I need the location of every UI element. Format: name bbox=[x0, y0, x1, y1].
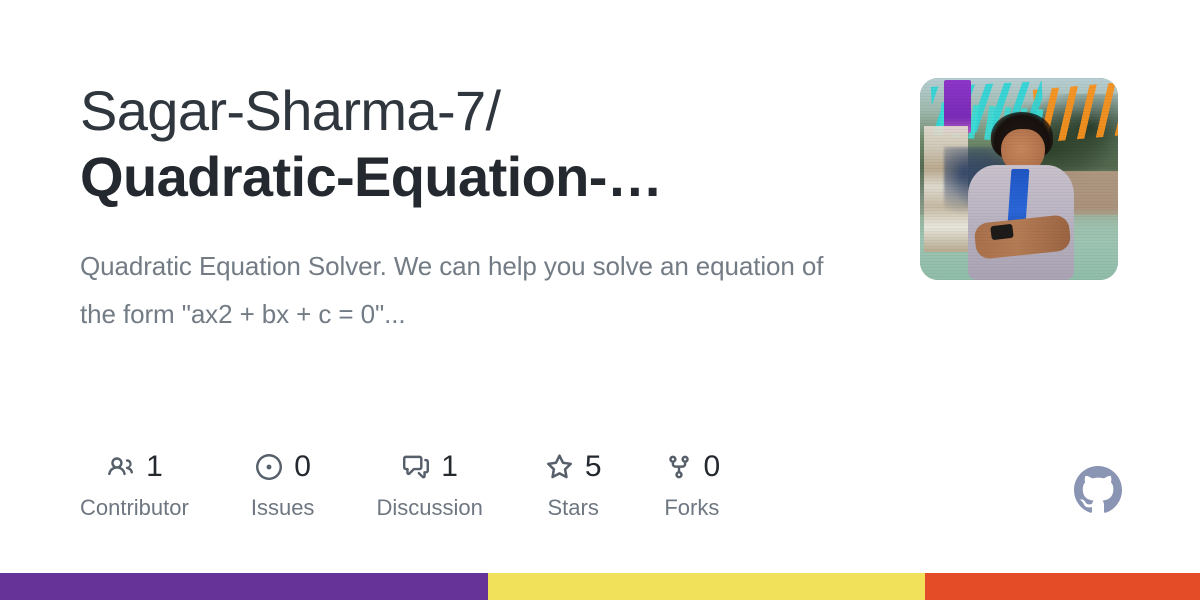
stat-value-row: 1 bbox=[106, 450, 163, 484]
repo-forked-icon bbox=[664, 452, 694, 482]
repo-stats: 1 Contributor 0 Issues bbox=[80, 450, 1040, 520]
stat-discussions: 1 Discussion bbox=[376, 450, 482, 520]
issue-opened-icon bbox=[254, 452, 284, 482]
stat-issues: 0 Issues bbox=[251, 450, 315, 520]
language-segment-purple bbox=[0, 573, 488, 600]
repo-owner-name: Sagar-Sharma-7/ bbox=[80, 78, 870, 144]
language-segment-orange-red bbox=[925, 573, 1200, 600]
stat-label: Forks bbox=[664, 496, 719, 520]
stat-value-row: 1 bbox=[401, 450, 458, 484]
stat-contributors: 1 Contributor bbox=[80, 450, 189, 520]
page-title: Sagar-Sharma-7/ Quadratic-Equation-… bbox=[80, 78, 870, 210]
stat-label: Issues bbox=[251, 496, 315, 520]
repo-name: Quadratic-Equation-… bbox=[80, 144, 780, 210]
people-icon bbox=[106, 452, 136, 482]
repo-header: Sagar-Sharma-7/ Quadratic-Equation-… Qua… bbox=[80, 78, 870, 338]
stat-value-row: 0 bbox=[664, 450, 721, 484]
stat-forks: 0 Forks bbox=[664, 450, 721, 520]
stat-label: Contributor bbox=[80, 496, 189, 520]
github-social-preview-card: Sagar-Sharma-7/ Quadratic-Equation-… Qua… bbox=[0, 0, 1200, 600]
stat-count: 0 bbox=[704, 452, 721, 482]
stat-stars: 5 Stars bbox=[545, 450, 602, 520]
star-icon bbox=[545, 452, 575, 482]
stat-value-row: 0 bbox=[254, 450, 311, 484]
stat-count: 5 bbox=[585, 452, 602, 482]
language-segment-yellow bbox=[488, 573, 925, 600]
github-mark-icon bbox=[1074, 466, 1122, 514]
avatar bbox=[920, 78, 1118, 280]
avatar-grain-overlay bbox=[920, 78, 1118, 280]
stat-label: Stars bbox=[547, 496, 598, 520]
stat-label: Discussion bbox=[376, 496, 482, 520]
stat-count: 0 bbox=[294, 452, 311, 482]
language-stripe bbox=[0, 573, 1200, 600]
repo-description: Quadratic Equation Solver. We can help y… bbox=[80, 242, 840, 338]
comment-discussion-icon bbox=[401, 452, 431, 482]
stat-value-row: 5 bbox=[545, 450, 602, 484]
stat-count: 1 bbox=[146, 452, 163, 482]
stat-count: 1 bbox=[441, 452, 458, 482]
